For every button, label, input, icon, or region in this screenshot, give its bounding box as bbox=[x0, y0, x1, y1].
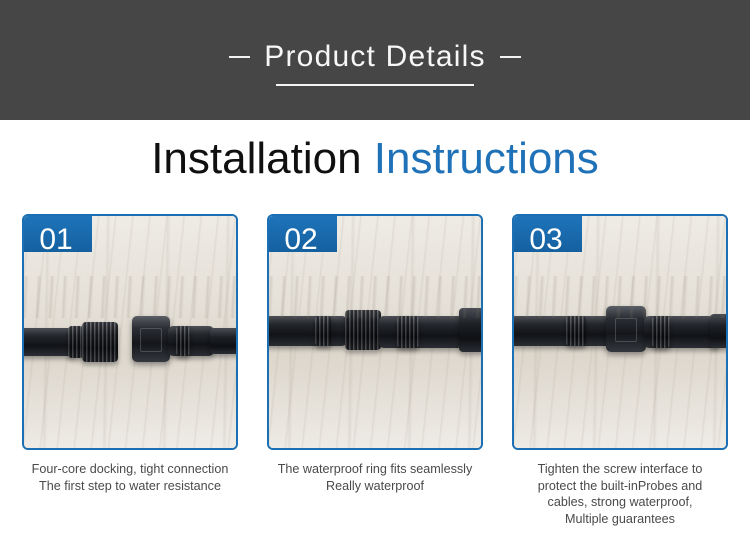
connector-right-body bbox=[379, 316, 463, 348]
connector-screw-ring bbox=[606, 306, 646, 352]
connector-end-cap bbox=[710, 314, 728, 348]
connector-right-rings bbox=[652, 316, 670, 348]
section-heading-word-installation: Installation bbox=[151, 134, 361, 183]
step-01-caption: Four-core docking, tight connection The … bbox=[15, 461, 245, 494]
connector-right-rings bbox=[176, 326, 190, 356]
section-heading-word-instructions: Instructions bbox=[374, 134, 599, 183]
header-content: Product Details bbox=[0, 0, 750, 120]
step-03-caption-line-4: Multiple guarantees bbox=[505, 511, 735, 528]
connector-right-nut bbox=[132, 316, 170, 362]
step-number-03: 03 bbox=[520, 216, 572, 264]
connector-left-rings bbox=[315, 316, 331, 346]
header-band: Product Details bbox=[0, 0, 750, 120]
step-02-caption-line-2: Really waterproof bbox=[260, 478, 490, 495]
step-02-caption: The waterproof ring fits seamlessly Real… bbox=[260, 461, 490, 494]
step-01-caption-line-2: The first step to water resistance bbox=[15, 478, 245, 495]
step-03-photo-frame: 03 bbox=[512, 214, 728, 450]
step-number-01: 01 bbox=[30, 216, 82, 264]
connector-left-rings bbox=[566, 316, 586, 346]
connector-center-ribs bbox=[345, 310, 381, 350]
step-01-caption-line-1: Four-core docking, tight connection bbox=[15, 461, 245, 478]
installation-step-01: 01 Four-core docking, tight connection T… bbox=[22, 214, 238, 560]
step-number-02: 02 bbox=[275, 216, 327, 264]
section-heading-space bbox=[362, 134, 374, 183]
page-title: Product Details bbox=[264, 40, 485, 74]
connector-end-cap bbox=[459, 308, 483, 352]
header-right-dash-icon bbox=[500, 56, 521, 58]
header-title-row: Product Details bbox=[229, 40, 520, 74]
step-03-caption-line-3: cables, strong waterproof, bbox=[505, 494, 735, 511]
connector-left-body bbox=[267, 316, 347, 346]
step-02-caption-line-1: The waterproof ring fits seamlessly bbox=[260, 461, 490, 478]
product-details-page: Product Details Installation Instruction… bbox=[0, 0, 750, 560]
installation-step-03: 03 Tighten the screw interface to protec… bbox=[512, 214, 728, 560]
step-03-caption-line-1: Tighten the screw interface to bbox=[505, 461, 735, 478]
connector-right-rings bbox=[397, 316, 419, 348]
connector-left-threads bbox=[82, 322, 118, 362]
step-02-photo-frame: 02 bbox=[267, 214, 483, 450]
header-underline bbox=[276, 84, 474, 86]
installation-steps-row: 01 Four-core docking, tight connection T… bbox=[0, 214, 750, 560]
connector-left-body bbox=[512, 316, 612, 346]
connector-right-tail bbox=[210, 328, 238, 354]
step-03-caption: Tighten the screw interface to protect t… bbox=[505, 461, 735, 527]
header-left-dash-icon bbox=[229, 56, 250, 58]
installation-step-02: 02 The waterproof ring fits seamlessly R… bbox=[267, 214, 483, 560]
step-01-photo-frame: 01 bbox=[22, 214, 238, 450]
step-03-caption-line-2: protect the built-inProbes and bbox=[505, 478, 735, 495]
connector-right-body bbox=[168, 326, 214, 356]
section-heading: Installation Instructions bbox=[0, 133, 750, 185]
